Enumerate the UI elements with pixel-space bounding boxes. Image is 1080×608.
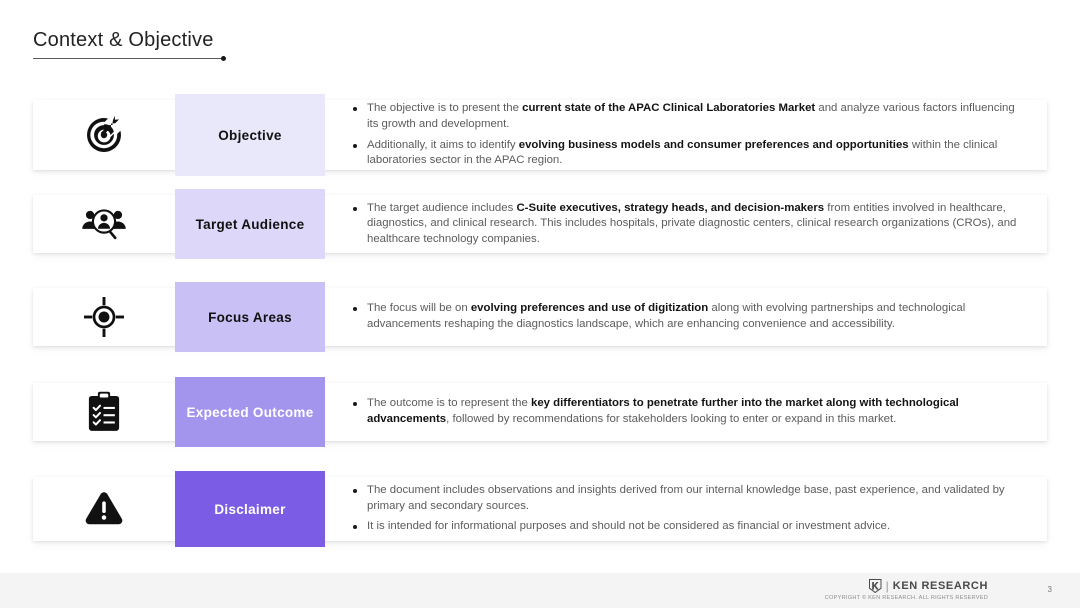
bullet-item: It is intended for informational purpose… — [353, 519, 1029, 535]
title-underline-dot — [221, 56, 226, 61]
row-card[interactable]: ObjectiveThe objective is to present the… — [33, 100, 1047, 170]
row-label-box[interactable]: Objective — [175, 94, 325, 176]
bullet-list: The focus will be on evolving preference… — [353, 301, 1029, 332]
row-icon-cell — [33, 383, 175, 441]
bullet-list: The objective is to present the current … — [353, 101, 1029, 168]
bullet-text: The document includes observations and i… — [367, 484, 1005, 512]
row-icon-cell — [33, 477, 175, 541]
audience-search-icon — [81, 204, 127, 244]
bullet-list: The outcome is to represent the key diff… — [353, 396, 1029, 427]
crosshair-focus-icon — [84, 297, 124, 337]
row-card[interactable]: DisclaimerThe document includes observat… — [33, 477, 1047, 541]
bullet-item: The focus will be on evolving preference… — [353, 301, 1029, 332]
row-label-cell[interactable]: Focus Areas — [175, 288, 325, 346]
warning-triangle-icon — [84, 491, 124, 527]
ken-shield-k-icon — [869, 579, 882, 593]
row-content-cell: The focus will be on evolving preference… — [325, 288, 1047, 346]
row-content-cell: The outcome is to represent the key diff… — [325, 383, 1047, 441]
bullet-text: The focus will be on — [367, 302, 471, 314]
row-icon-cell — [33, 288, 175, 346]
bullet-text: The target audience includes — [367, 202, 516, 214]
row-content-cell: The objective is to present the current … — [325, 100, 1047, 170]
bullet-emphasis: evolving business models and consumer pr… — [519, 139, 909, 151]
bullet-emphasis: C-Suite executives, strategy heads, and … — [516, 202, 824, 214]
bullet-text: It is intended for informational purpose… — [367, 520, 890, 532]
bullet-item: The outcome is to represent the key diff… — [353, 396, 1029, 427]
row-label-cell[interactable]: Objective — [175, 100, 325, 170]
logo-divider: | — [886, 579, 889, 593]
page-title-block: Context & Objective — [33, 27, 433, 59]
row-label-text: Expected Outcome — [186, 404, 313, 421]
title-underline — [33, 58, 223, 59]
bullet-item: The target audience includes C-Suite exe… — [353, 201, 1029, 248]
content-row: Expected OutcomeThe outcome is to repres… — [33, 383, 1047, 441]
bullet-list: The target audience includes C-Suite exe… — [353, 201, 1029, 248]
ken-research-logo: | KEN RESEARCH — [869, 579, 988, 593]
row-icon-cell — [33, 195, 175, 253]
target-dart-icon — [82, 113, 126, 157]
footer-copyright: COPYRIGHT © KEN RESEARCH. ALL RIGHTS RES… — [825, 595, 988, 601]
row-label-cell[interactable]: Expected Outcome — [175, 383, 325, 441]
row-content-cell: The document includes observations and i… — [325, 477, 1047, 541]
footer-bar: | KEN RESEARCH COPYRIGHT © KEN RESEARCH.… — [0, 573, 1080, 608]
row-label-cell[interactable]: Target Audience — [175, 195, 325, 253]
row-label-cell[interactable]: Disclaimer — [175, 477, 325, 541]
bullet-text: , followed by recommendations for stakeh… — [446, 413, 896, 425]
row-content-cell: The target audience includes C-Suite exe… — [325, 195, 1047, 253]
row-label-text: Objective — [218, 127, 281, 144]
bullet-text: Additionally, it aims to identify — [367, 139, 519, 151]
row-label-box[interactable]: Focus Areas — [175, 282, 325, 352]
content-row: Focus AreasThe focus will be on evolving… — [33, 288, 1047, 346]
bullet-item: The objective is to present the current … — [353, 101, 1029, 132]
bullet-text: The objective is to present the — [367, 102, 522, 114]
logo-wordmark: KEN RESEARCH — [893, 580, 988, 592]
bullet-emphasis: evolving preferences and use of digitiza… — [471, 302, 708, 314]
bullet-text: The outcome is to represent the — [367, 397, 531, 409]
row-card[interactable]: Focus AreasThe focus will be on evolving… — [33, 288, 1047, 346]
clipboard-check-icon — [87, 391, 121, 433]
row-label-text: Focus Areas — [208, 309, 292, 326]
bullet-item: The document includes observations and i… — [353, 483, 1029, 514]
row-icon-cell — [33, 100, 175, 170]
content-row: DisclaimerThe document includes observat… — [33, 477, 1047, 541]
row-label-box[interactable]: Disclaimer — [175, 471, 325, 547]
content-row: Target AudienceThe target audience inclu… — [33, 195, 1047, 253]
bullet-emphasis: current state of the APAC Clinical Labor… — [522, 102, 815, 114]
row-label-box[interactable]: Target Audience — [175, 189, 325, 259]
row-card[interactable]: Target AudienceThe target audience inclu… — [33, 195, 1047, 253]
row-label-box[interactable]: Expected Outcome — [175, 377, 325, 447]
row-label-text: Disclaimer — [214, 501, 285, 518]
content-row: ObjectiveThe objective is to present the… — [33, 100, 1047, 170]
page-title: Context & Objective — [33, 27, 433, 53]
page-number: 3 — [1048, 585, 1052, 594]
row-card[interactable]: Expected OutcomeThe outcome is to repres… — [33, 383, 1047, 441]
bullet-list: The document includes observations and i… — [353, 483, 1029, 535]
row-label-text: Target Audience — [196, 216, 305, 233]
bullet-item: Additionally, it aims to identify evolvi… — [353, 138, 1029, 169]
